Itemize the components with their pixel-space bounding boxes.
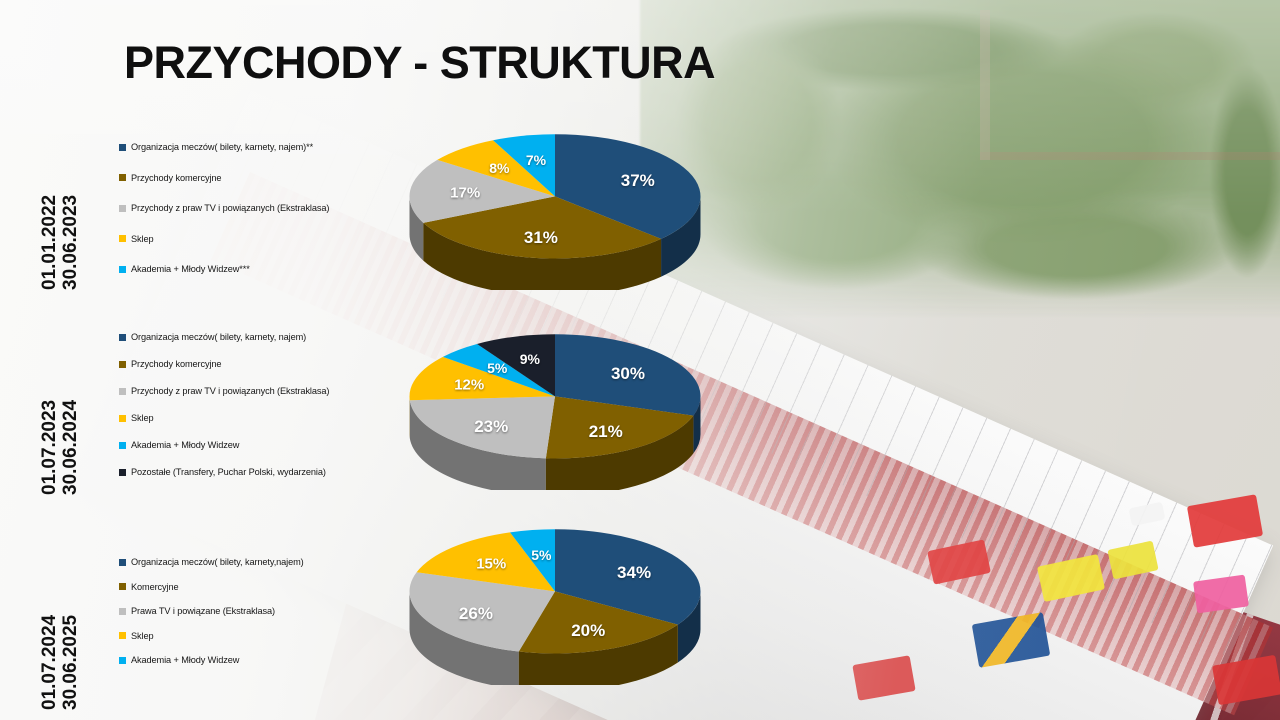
pie-data-label: 34% xyxy=(617,563,651,583)
legend-swatch-icon xyxy=(119,174,126,181)
legend-item[interactable]: Akademia + Młody Widzew xyxy=(119,655,239,665)
legend-swatch-icon xyxy=(119,469,126,476)
legend-item[interactable]: Organizacja meczów( bilety, karnety, naj… xyxy=(119,142,313,152)
pie-data-label: 5% xyxy=(487,360,507,376)
period-3-to: 30.06.2025 xyxy=(61,550,80,710)
pie-data-label: 30% xyxy=(611,364,645,384)
pie-chart-2: 30%21%23%12%5%9% xyxy=(405,310,705,490)
legend-swatch-icon xyxy=(119,608,126,615)
period-label-1: 01.01.2022 30.06.2023 xyxy=(40,130,80,290)
legend-item-label: Sklep xyxy=(131,631,153,641)
pie-data-label: 17% xyxy=(450,184,480,201)
legend-item-label: Akademia + Młody Widzew xyxy=(131,655,239,665)
legend-swatch-icon xyxy=(119,583,126,590)
legend-swatch-icon xyxy=(119,235,126,242)
legend-item-label: Organizacja meczów( bilety, karnety,naje… xyxy=(131,557,304,567)
legend-item-label: Przychody z praw TV i powiązanych (Ekstr… xyxy=(131,203,329,213)
legend-swatch-icon xyxy=(119,205,126,212)
legend-swatch-icon xyxy=(119,657,126,664)
legend-item-label: Akademia + Młody Widzew xyxy=(131,440,239,450)
pie-data-label: 21% xyxy=(589,422,623,442)
period-label-2: 01.07.2023 30.06.2024 xyxy=(40,335,80,495)
legend-item[interactable]: Komercyjne xyxy=(119,582,179,592)
legend-item-label: Komercyjne xyxy=(131,582,179,592)
pie-data-label: 12% xyxy=(454,376,484,393)
legend-swatch-icon xyxy=(119,415,126,422)
legend-item-label: Prawa TV i powiązane (Ekstraklasa) xyxy=(131,606,275,616)
legend-swatch-icon xyxy=(119,388,126,395)
legend-item[interactable]: Przychody komercyjne xyxy=(119,359,221,369)
pie-chart-3: 34%20%26%15%5% xyxy=(405,505,705,685)
legend-item[interactable]: Przychody z praw TV i powiązanych (Ekstr… xyxy=(119,203,329,213)
legend-item-label: Sklep xyxy=(131,413,153,423)
legend-item[interactable]: Przychody komercyjne xyxy=(119,173,221,183)
legend-item[interactable]: Akademia + Młody Widzew xyxy=(119,440,239,450)
pie-data-label: 23% xyxy=(474,417,508,437)
period-1-from: 01.01.2022 xyxy=(40,130,59,290)
legend-item-label: Akademia + Młody Widzew*** xyxy=(131,264,250,274)
pie-data-label: 15% xyxy=(476,556,506,573)
legend-item[interactable]: Organizacja meczów( bilety, karnety,naje… xyxy=(119,557,304,567)
pie-svg xyxy=(405,310,705,490)
period-3-from: 01.07.2024 xyxy=(40,550,59,710)
legend-item[interactable]: Prawa TV i powiązane (Ekstraklasa) xyxy=(119,606,275,616)
pie-data-label: 5% xyxy=(531,547,551,563)
legend-item-label: Przychody komercyjne xyxy=(131,173,221,183)
pie-data-label: 37% xyxy=(621,171,655,191)
pie-data-label: 9% xyxy=(520,351,540,367)
legend-item[interactable]: Organizacja meczów( bilety, karnety, naj… xyxy=(119,332,306,342)
pie-chart-1: 37%31%17%8%7% xyxy=(405,110,705,290)
pie-data-label: 31% xyxy=(524,228,558,248)
legend-swatch-icon xyxy=(119,559,126,566)
legend-swatch-icon xyxy=(119,361,126,368)
legend-item-label: Przychody z praw TV i powiązanych (Ekstr… xyxy=(131,386,329,396)
legend-item-label: Organizacja meczów( bilety, karnety, naj… xyxy=(131,332,306,342)
pie-data-label: 26% xyxy=(459,604,493,624)
legend-item-label: Pozostałe (Transfery, Puchar Polski, wyd… xyxy=(131,467,326,477)
legend-item-label: Przychody komercyjne xyxy=(131,359,221,369)
page-title: PRZYCHODY - STRUKTURA xyxy=(124,37,715,89)
legend-swatch-icon xyxy=(119,266,126,273)
legend-swatch-icon xyxy=(119,632,126,639)
period-2-from: 01.07.2023 xyxy=(40,335,59,495)
legend-item[interactable]: Sklep xyxy=(119,413,153,423)
period-2-to: 30.06.2024 xyxy=(61,335,80,495)
legend-item[interactable]: Przychody z praw TV i powiązanych (Ekstr… xyxy=(119,386,329,396)
legend-item[interactable]: Akademia + Młody Widzew*** xyxy=(119,264,250,274)
pie-svg xyxy=(405,505,705,685)
legend-swatch-icon xyxy=(119,442,126,449)
pie-data-label: 20% xyxy=(571,621,605,641)
slide-canvas: SERCE ŁODZI bije właśnie tu! PRZYCHODY -… xyxy=(0,0,1280,720)
legend-swatch-icon xyxy=(119,334,126,341)
legend-item-label: Sklep xyxy=(131,234,153,244)
legend-item[interactable]: Pozostałe (Transfery, Puchar Polski, wyd… xyxy=(119,467,326,477)
legend-item[interactable]: Sklep xyxy=(119,234,153,244)
legend-item[interactable]: Sklep xyxy=(119,631,153,641)
period-1-to: 30.06.2023 xyxy=(61,130,80,290)
legend-item-label: Organizacja meczów( bilety, karnety, naj… xyxy=(131,142,313,152)
pie-data-label: 8% xyxy=(489,160,509,176)
period-label-3: 01.07.2024 30.06.2025 xyxy=(40,550,80,710)
legend-swatch-icon xyxy=(119,144,126,151)
pie-data-label: 7% xyxy=(526,152,546,168)
